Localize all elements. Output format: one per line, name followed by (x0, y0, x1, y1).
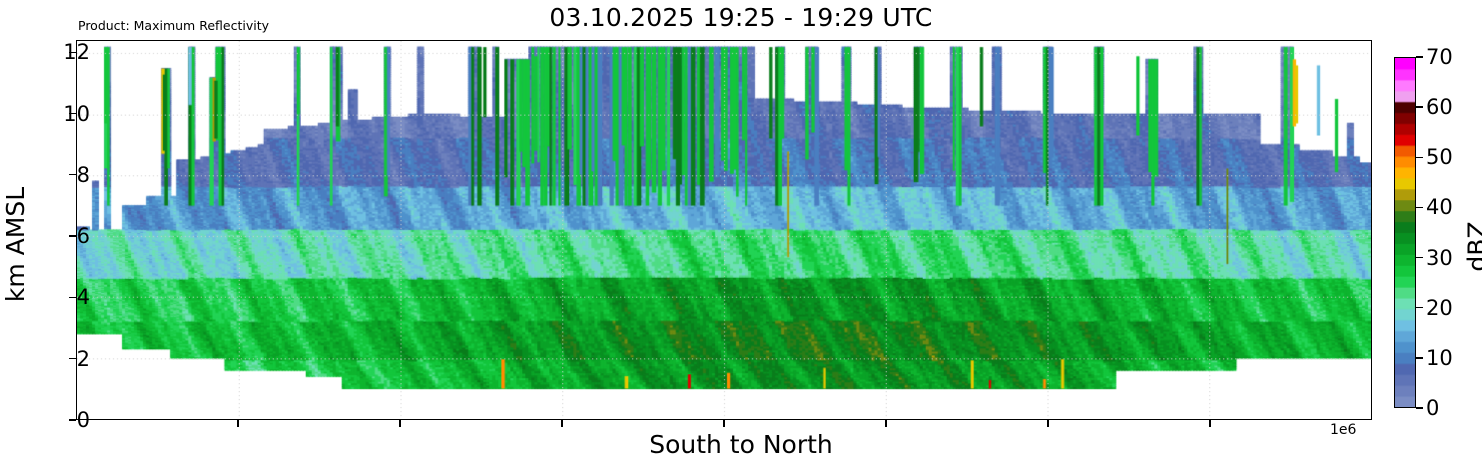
y-tick-label: 4 (77, 285, 90, 309)
colorbar-tick-label: 0 (1426, 396, 1439, 420)
y-tick-label: 10 (63, 102, 90, 126)
y-tick-label: 6 (77, 224, 90, 248)
colorbar-tick-mark (1416, 257, 1423, 258)
colorbar-tick-mark (1416, 407, 1423, 408)
radar-cross-section-figure: 03.10.2025 19:25 - 19:29 UTC Product: Ma… (0, 0, 1482, 470)
colorbar-tick-label: 70 (1426, 45, 1453, 69)
x-tick-mark (561, 420, 562, 427)
colorbar-tick-label: 60 (1426, 95, 1453, 119)
x-tick-mark (723, 420, 724, 427)
product-annotation: Product: Maximum Reflectivity (78, 18, 269, 33)
y-tick-mark (69, 297, 76, 298)
y-tick-mark (69, 174, 76, 175)
colorbar-tick-mark (1416, 307, 1423, 308)
colorbar-label: dBZ (1463, 221, 1482, 271)
x-tick-mark (1209, 420, 1210, 427)
y-tick-label: 2 (77, 347, 90, 371)
plot-area[interactable] (76, 40, 1372, 420)
y-tick-label: 12 (63, 40, 90, 64)
y-tick-label: 0 (77, 408, 90, 432)
y-tick-mark (69, 419, 76, 420)
x-axis-label: South to North (0, 430, 1482, 459)
colorbar-tick-mark (1416, 207, 1423, 208)
y-tick-label: 8 (77, 163, 90, 187)
reflectivity-heatmap (77, 41, 1371, 419)
x-axis-offset-text: 1e6 (1330, 422, 1356, 438)
colorbar-gradient (1395, 58, 1415, 407)
colorbar-tick-label: 10 (1426, 346, 1453, 370)
colorbar-tick-label: 50 (1426, 145, 1453, 169)
colorbar-tick-mark (1416, 357, 1423, 358)
x-tick-mark (237, 420, 238, 427)
colorbar[interactable] (1394, 57, 1416, 408)
colorbar-tick-mark (1416, 56, 1423, 57)
x-tick-mark (885, 420, 886, 427)
colorbar-tick-mark (1416, 106, 1423, 107)
y-tick-mark (69, 235, 76, 236)
colorbar-tick-label: 20 (1426, 296, 1453, 320)
colorbar-tick-label: 30 (1426, 246, 1453, 270)
y-tick-mark (69, 358, 76, 359)
x-tick-mark (1047, 420, 1048, 427)
x-tick-mark (399, 420, 400, 427)
colorbar-tick-mark (1416, 157, 1423, 158)
colorbar-tick-label: 40 (1426, 195, 1453, 219)
y-axis-label: km AMSL (1, 187, 30, 302)
